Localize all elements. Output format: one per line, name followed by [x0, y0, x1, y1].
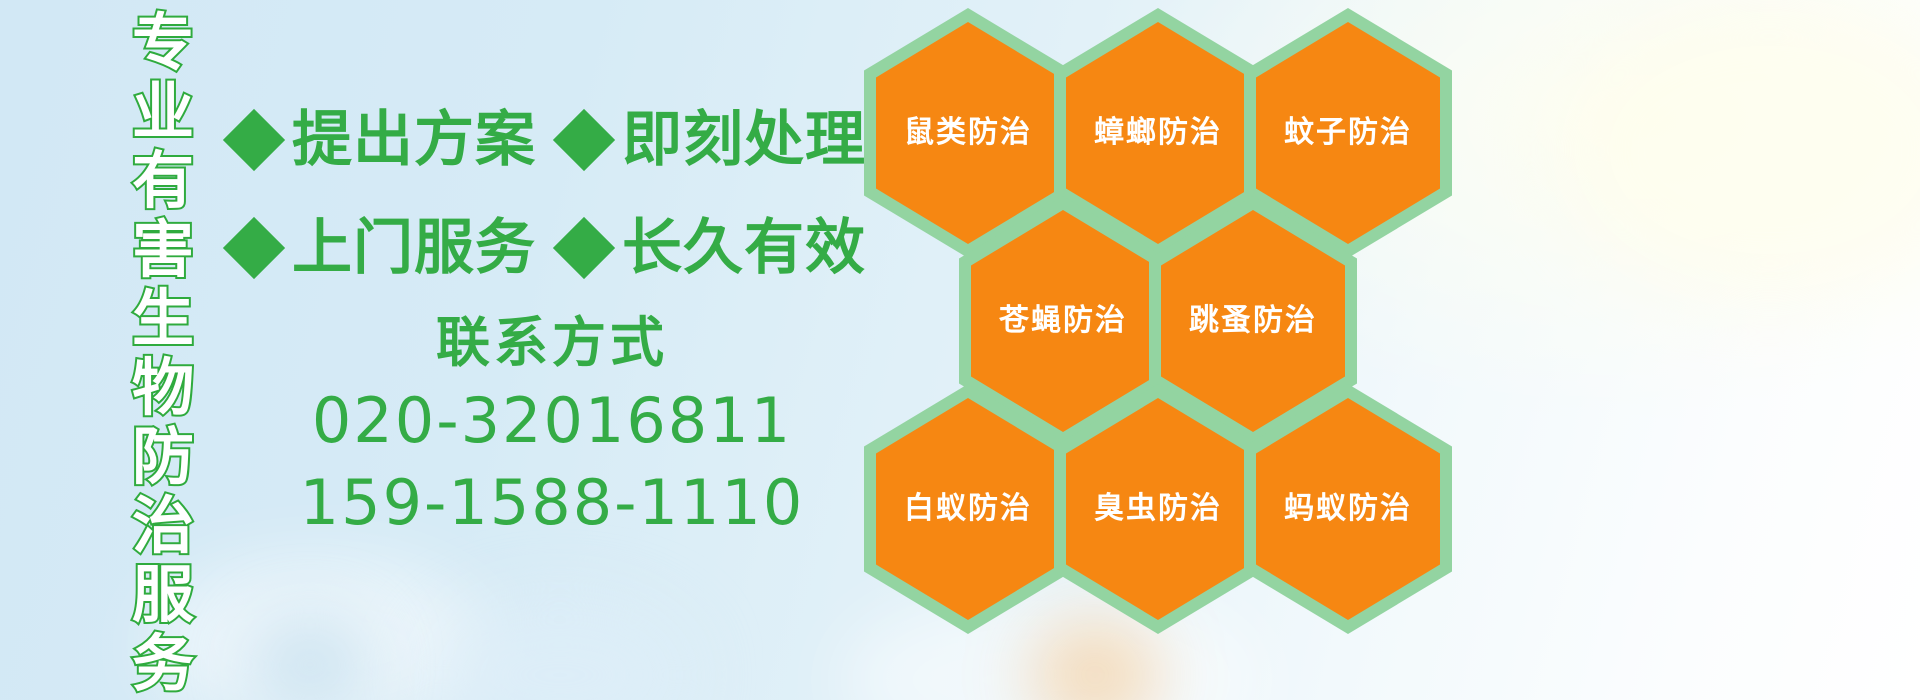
service-label: 苍蝇防治	[999, 306, 1127, 336]
feature-label: 上门服务	[292, 218, 536, 278]
vertical-headline-char: 物	[132, 353, 194, 422]
service-hexagon-termite[interactable]: 白蚁防治	[864, 384, 1072, 634]
contact-phone-mobile[interactable]: 159-1588-1110	[232, 462, 872, 544]
vertical-headline-char: 防	[132, 422, 194, 491]
service-label: 蚊子防治	[1284, 118, 1412, 148]
vertical-headline-char: 有	[132, 146, 194, 215]
service-label: 跳蚤防治	[1189, 306, 1317, 336]
background-haze	[430, 600, 690, 700]
vertical-headline-char: 生	[132, 284, 194, 353]
services-honeycomb: 鼠类防治 蟑螂防治 蚊子防治 苍蝇防治 跳蚤防治	[856, 0, 1920, 700]
vertical-headline-char: 治	[132, 491, 194, 560]
feature-item-propose-plan: 提出方案	[232, 110, 536, 170]
service-label: 蟑螂防治	[1094, 118, 1222, 148]
diamond-icon	[553, 217, 615, 279]
vertical-headline-char: 服	[132, 560, 194, 629]
feature-item-door-to-door-service: 上门服务	[232, 218, 536, 278]
service-hexagon-ant[interactable]: 蚂蚁防治	[1244, 384, 1452, 634]
contact-phone-landline[interactable]: 020-32016811	[232, 380, 872, 462]
service-hexagon-bedbug[interactable]: 臭虫防治	[1054, 384, 1262, 634]
diamond-icon	[223, 109, 285, 171]
feature-label: 长久有效	[622, 218, 866, 278]
feature-item-long-lasting-effect: 长久有效	[562, 218, 866, 278]
vertical-headline-char: 务	[132, 629, 194, 698]
feature-row: 上门服务 长久有效	[232, 194, 872, 302]
service-label: 臭虫防治	[1094, 494, 1222, 524]
contact-block: 联系方式 020-32016811 159-1588-1110	[232, 306, 872, 544]
background-haze	[250, 620, 370, 700]
diamond-icon	[553, 109, 615, 171]
feature-row: 提出方案 即刻处理	[232, 86, 872, 194]
feature-list: 提出方案 即刻处理 上门服务 长久有效	[232, 86, 872, 302]
vertical-headline-char: 害	[132, 215, 194, 284]
diamond-icon	[223, 217, 285, 279]
feature-item-immediate-handling: 即刻处理	[562, 110, 866, 170]
contact-title: 联系方式	[232, 306, 872, 380]
vertical-headline: 专 业 有 害 生 物 防 治 服 务	[108, 8, 218, 698]
service-label: 蚂蚁防治	[1284, 494, 1412, 524]
promo-banner: 专 业 有 害 生 物 防 治 服 务 提出方案 即刻处理 上门服务	[0, 0, 1920, 700]
feature-label: 提出方案	[292, 110, 536, 170]
vertical-headline-char: 业	[132, 77, 194, 146]
service-label: 白蚁防治	[904, 494, 1032, 524]
service-label: 鼠类防治	[904, 118, 1032, 148]
vertical-headline-char: 专	[132, 8, 194, 77]
feature-label: 即刻处理	[622, 110, 866, 170]
